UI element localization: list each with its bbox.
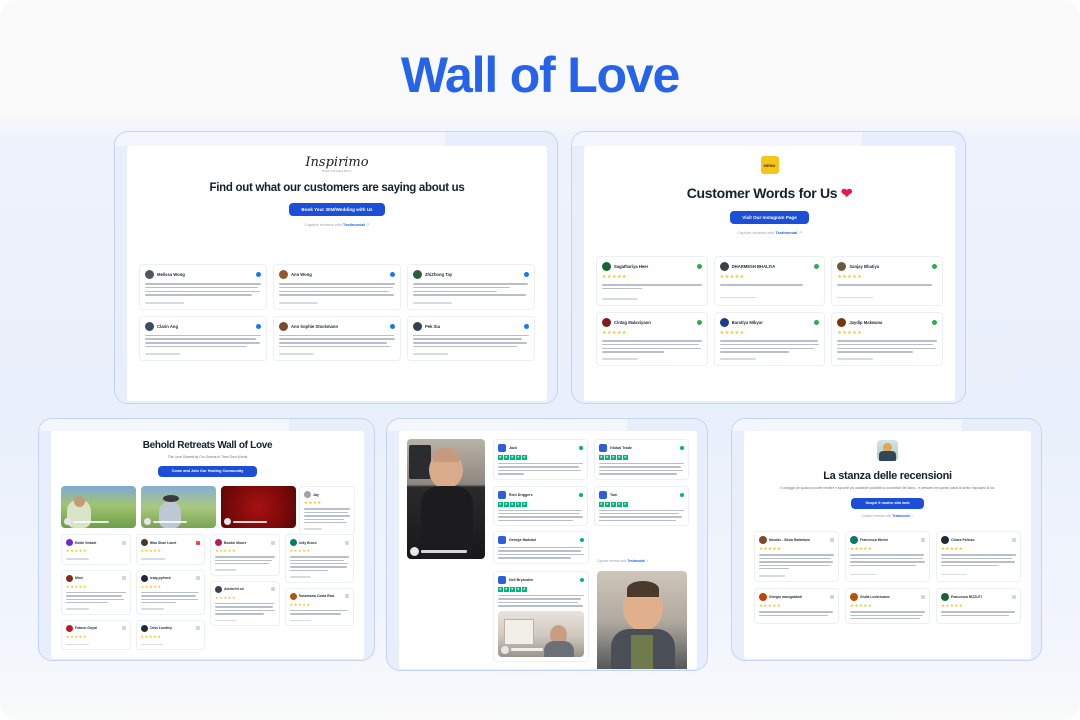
capture-brand: Testimonial: [627, 559, 644, 563]
avatar: [941, 593, 949, 601]
reviews-masonry: Eddie Vedant ★★★★★ Mimi ★★★★★: [61, 534, 354, 650]
video-testimonial[interactable]: [597, 571, 687, 669]
review-text: [66, 592, 126, 604]
facebook-icon: [524, 324, 529, 329]
review-date: [759, 575, 785, 576]
review-text: [290, 610, 350, 615]
panel-subheading: Il coraggio pe qualcuno potrei rendere e…: [770, 486, 1005, 491]
video-label: [410, 547, 467, 556]
facebook-icon: [256, 324, 261, 329]
video-thumbnail[interactable]: [141, 486, 216, 528]
review-date: [145, 302, 184, 304]
review-text: [599, 510, 684, 522]
review-header: Neil Bryanden: [498, 576, 584, 584]
source-icon: [122, 626, 126, 630]
star-rating: ★★★★★: [602, 275, 702, 280]
panel-sheet: Jack ★★★★★ Glo: [399, 431, 697, 669]
video-label: [501, 646, 543, 654]
source-icon: [921, 595, 925, 599]
star-rating: ★★★★★: [837, 331, 937, 336]
source-icon: [345, 541, 349, 545]
review-header: Criss Lundley: [141, 625, 201, 632]
review-header: Ann Sophie Stockmann: [279, 322, 395, 331]
reviewer-name: Global Trade: [610, 446, 680, 450]
review-card[interactable]: DHARMESH BHALIYA ★★★★★: [714, 256, 826, 306]
star-rating: ★★★★★: [66, 635, 126, 639]
reviewer-name: Baratiya Mikyur: [732, 320, 815, 325]
reviewer-name: ZhiZhong Tay: [425, 272, 524, 277]
review-header: ZhiZhong Tay: [413, 270, 529, 279]
avatar-initials: [498, 444, 506, 452]
panel-corner-accent: [572, 132, 862, 146]
review-header: Alexbrett on: [215, 586, 275, 593]
source-icon: [271, 541, 275, 545]
star-rating: ★★★★★: [141, 635, 201, 639]
avatar: [290, 593, 297, 600]
review-header: George Haddad: [498, 536, 584, 544]
reviewer-name: George Haddad: [509, 538, 580, 542]
review-date: [290, 620, 311, 621]
avatar: [837, 318, 846, 327]
video-testimonial[interactable]: [407, 439, 485, 559]
review-date: [602, 298, 638, 300]
avatar: [141, 539, 148, 546]
review-text: [720, 340, 820, 353]
review-header: Melissa Wong: [145, 270, 261, 279]
avatar: [66, 539, 73, 546]
google-icon: [932, 320, 937, 325]
brand-logo-text: MENU: [764, 163, 776, 168]
video-label: [224, 518, 267, 525]
panel-corner-accent: [115, 132, 445, 146]
review-card[interactable]: Pek Sia: [407, 316, 535, 362]
review-card[interactable]: Rich Driggers ★★★★★: [493, 486, 588, 527]
star-rating: ★★★★★: [66, 585, 126, 589]
review-header: Global Trade: [599, 444, 684, 452]
avatar: [413, 270, 422, 279]
review-header: Mika Shae Lonet: [141, 539, 201, 546]
review-card[interactable]: Jolly Bruce ★★★★★: [285, 534, 355, 583]
reviewer-name: Rich Driggers: [509, 493, 579, 497]
cta-button[interactable]: Book Your 30M/Wedding with Us: [289, 203, 384, 216]
source-icon: [830, 538, 834, 542]
review-text: [837, 340, 937, 353]
panel-customer-words[interactable]: MENU Customer Words for Us ❤ Visit Our I…: [571, 131, 966, 404]
avatar-initials: [498, 536, 506, 544]
review-text: [602, 340, 702, 353]
review-date: [145, 353, 180, 355]
star-rating: ★★★★★: [602, 331, 702, 336]
reviewer-name: Mika Shae Lonet: [150, 541, 197, 545]
star-rating: ★★★★★: [599, 502, 684, 507]
cta-button[interactable]: Visit Our Instagram Page: [730, 211, 809, 224]
avatar: [837, 262, 846, 271]
review-header: Cintag Malaviyaon: [602, 318, 702, 327]
review-text: [215, 556, 275, 564]
review-text: [290, 556, 350, 571]
star-rating: ★★★★★: [720, 275, 820, 280]
review-header: Rosamaria Costa Rica: [290, 593, 350, 600]
reviewer-name: Clarin Ang: [157, 324, 256, 329]
review-card[interactable]: Bookie Moore ★★★★★: [210, 534, 280, 576]
review-card[interactable]: Fabrun Goyal ★★★★★: [61, 620, 131, 651]
star-rating: ★★★★★: [498, 455, 583, 460]
review-header: Clarin Ang: [145, 322, 261, 331]
review-date: [215, 569, 236, 570]
avatar-initials: [498, 576, 506, 584]
avatar: [141, 625, 148, 632]
page-title: Wall of Love: [0, 46, 1080, 104]
reviews-grid: Melissa Wong Ann Wong: [139, 264, 535, 361]
review-date: [413, 302, 452, 304]
video-author-name: [233, 521, 267, 523]
review-card[interactable]: Eddie Vedant ★★★★★: [61, 534, 131, 565]
reviewer-name: DHARMESH BHALIYA: [732, 264, 815, 269]
source-icon: [122, 576, 126, 580]
avatar: [410, 547, 419, 556]
star-rating: ★★★★★: [215, 549, 275, 553]
review-date: [141, 608, 165, 609]
review-text: [720, 284, 820, 286]
review-text: [145, 283, 261, 296]
reviewer-name: Giulia Lodericamo: [860, 595, 921, 599]
reviewer-name: Criss Lundley: [150, 626, 197, 630]
review-card[interactable]: Chiara Pelluso ★★★★★: [936, 531, 1021, 582]
review-card[interactable]: Clarin Ang: [139, 316, 267, 362]
trustpilot-icon: [580, 578, 584, 582]
google-icon: [697, 264, 702, 269]
review-card[interactable]: Tom ★★★★★: [594, 486, 689, 527]
review-header: craig pyfrock: [141, 575, 201, 582]
facebook-icon: [256, 272, 261, 277]
review-date: [279, 302, 318, 304]
reviewer-name: Francesca Morini: [860, 538, 921, 542]
review-card[interactable]: George Haddad: [493, 531, 589, 564]
review-text: [837, 284, 937, 286]
review-text: [279, 335, 395, 348]
capture-prefix: Capture reviews with: [737, 230, 774, 235]
facebook-icon: [390, 272, 395, 277]
review-date: [850, 574, 876, 575]
review-header: Jack: [498, 444, 583, 452]
reviews-grid: Sagathariya Heer ★★★★★ DHARMESH BHALIYA: [596, 256, 943, 366]
star-rating: ★★★★★: [941, 604, 1016, 608]
reviewer-name: Nicolas - Silvia Rafaelanu: [769, 538, 830, 542]
brand-logo-subtitle: PHOTOGRAPHY: [127, 169, 547, 173]
video-label: [144, 518, 187, 525]
source-icon: [1012, 595, 1016, 599]
video-thumb-row: [61, 486, 296, 528]
brand-logo: MENU: [761, 156, 779, 174]
review-card[interactable]: Cintag Malaviyaon ★★★★★: [596, 312, 708, 366]
review-card[interactable]: Giulia Lodericamo ★★★★★: [845, 588, 930, 625]
review-header: Jolly Bruce: [290, 539, 350, 546]
review-card[interactable]: Nicolas - Silvia Rafaelanu ★★★★★: [754, 531, 839, 582]
panel-video-wall[interactable]: Jack ★★★★★ Glo: [386, 418, 708, 671]
review-text: [413, 283, 529, 296]
panel-sheet: Inspirimo PHOTOGRAPHY Find out what our …: [127, 146, 547, 401]
review-card[interactable]: Alexbrett on ★★★★★: [210, 581, 280, 626]
review-text: [599, 463, 684, 475]
review-date: [279, 353, 314, 355]
avatar: [66, 575, 73, 582]
review-text: [215, 603, 275, 615]
cta-button[interactable]: Come and Join Our Healing Community: [158, 466, 258, 477]
review-header: Eddie Vedant: [66, 539, 126, 546]
star-rating: ★★★★★: [599, 455, 684, 460]
review-header: Fabrun Goyal: [66, 625, 126, 632]
brand-logo: [877, 440, 898, 461]
review-text: [145, 335, 261, 348]
panel-corner-accent: [39, 419, 289, 431]
star-rating: ★★★★★: [290, 603, 350, 607]
review-card[interactable]: Mika Shae Lonet ★★★★★: [136, 534, 206, 565]
star-rating: ★★★★★: [759, 604, 834, 608]
review-header: Nicolas - Silvia Rafaelanu: [759, 536, 834, 544]
review-date: [413, 353, 448, 355]
capture-reviews-note: Capture reviews with Testimonial ↗: [127, 222, 547, 227]
reviewer-name: Sanjay Bhatiya: [849, 264, 932, 269]
review-text: [759, 611, 834, 616]
panel-inspirimo[interactable]: Inspirimo PHOTOGRAPHY Find out what our …: [114, 131, 558, 404]
review-date: [141, 644, 164, 645]
trustpilot-icon: [580, 538, 584, 542]
heart-icon: ❤: [841, 185, 852, 201]
avatar: [141, 575, 148, 582]
review-header: Bookie Moore: [215, 539, 275, 546]
review-text: [498, 510, 583, 522]
review-text: [498, 463, 583, 475]
source-icon: [1012, 538, 1016, 542]
panel-la-stanza[interactable]: La stanza delle recensioni Il coraggio p…: [731, 418, 1042, 661]
avatar: [850, 536, 858, 544]
avatar: [224, 518, 231, 525]
review-card[interactable]: Giorgio marzgabbidi ★★★★★: [754, 588, 839, 625]
star-rating: ★★★★★: [759, 547, 834, 551]
source-icon: [345, 594, 349, 598]
avatar: [850, 593, 858, 601]
avatar: [145, 270, 154, 279]
trustpilot-icon: [680, 493, 684, 497]
capture-reviews-note: Capture reviews with Testimonial ↗: [744, 514, 1031, 518]
avatar: [64, 518, 71, 525]
panel-heading: Customer Words for Us ❤: [584, 185, 955, 202]
trustpilot-icon: [579, 446, 583, 450]
review-card[interactable]: Neil Bryanden ★★★★★: [493, 571, 589, 662]
video-label: [64, 518, 109, 525]
review-text: [850, 611, 925, 619]
review-text: [413, 335, 529, 348]
avatar: [602, 318, 611, 327]
review-card[interactable]: Rosamaria Costa Rica ★★★★★: [285, 588, 355, 626]
reviewer-name: Alexbrett on: [224, 587, 271, 591]
google-icon: [814, 264, 819, 269]
source-icon: [830, 595, 834, 599]
review-date: [290, 576, 311, 577]
review-date: [720, 358, 756, 360]
review-date: [66, 608, 89, 609]
review-card[interactable]: Jack ★★★★★: [493, 439, 588, 480]
review-card[interactable]: Jay ★★★★: [299, 486, 355, 535]
facebook-icon: [524, 272, 529, 277]
avatar: [602, 262, 611, 271]
review-date: [141, 558, 166, 559]
review-card[interactable]: Mimi ★★★★★: [61, 570, 131, 615]
avatar: [215, 539, 222, 546]
avatar: [501, 646, 509, 654]
review-card[interactable]: Criss Lundley ★★★★★: [136, 620, 206, 651]
panel-sheet: La stanza delle recensioni Il coraggio p…: [744, 431, 1031, 659]
review-header: Mimi: [66, 575, 126, 582]
google-icon: [932, 264, 937, 269]
avatar-initials: [498, 491, 506, 499]
panel-sheet: MENU Customer Words for Us ❤ Visit Our I…: [584, 146, 955, 401]
video-thumbnail[interactable]: [221, 486, 296, 528]
reviewer-name: Fabrun Goyal: [75, 626, 122, 630]
reviewer-name: Chiara Pelluso: [951, 538, 1012, 542]
review-card[interactable]: Sagathariya Heer ★★★★★: [596, 256, 708, 306]
reviewer-name: Rosamaria Costa Rica: [299, 594, 346, 598]
brand-logo: Inspirimo: [127, 156, 547, 169]
avatar: [720, 262, 729, 271]
facebook-icon: [390, 324, 395, 329]
review-card[interactable]: Baratiya Mikyur ★★★★★: [714, 312, 826, 366]
avatar: [215, 586, 222, 593]
video-author-name: [153, 521, 187, 523]
review-card[interactable]: craig pyfrock ★★★★★: [136, 570, 206, 615]
video-testimonial[interactable]: [498, 611, 584, 657]
review-card[interactable]: ZhiZhong Tay: [407, 264, 535, 310]
star-rating: ★★★★★: [720, 331, 820, 336]
review-header: Giulia Lodericamo: [850, 593, 925, 601]
review-card[interactable]: Sanjay Bhatiya ★★★★★: [831, 256, 943, 306]
review-date: [720, 297, 756, 299]
reviewer-name: Francesca RIZZUTI: [951, 595, 1012, 599]
reviewer-name: Giorgio marzgabbidi: [769, 595, 830, 599]
source-icon: [271, 587, 275, 591]
reviewer-name: Jay: [313, 493, 350, 497]
reviewer-name: Tom: [610, 493, 680, 497]
star-rating: ★★★★★: [215, 596, 275, 600]
review-text: [304, 508, 350, 523]
review-card[interactable]: Ann Sophie Stockmann: [273, 316, 401, 362]
source-icon: [122, 541, 126, 545]
source-icon: [921, 538, 925, 542]
reviews-grid: Jack ★★★★★ Glo: [493, 439, 689, 526]
reviewer-name: Mimi: [75, 576, 122, 580]
avatar: [145, 322, 154, 331]
review-text: [941, 611, 1016, 616]
avatar-initials: [599, 444, 607, 452]
star-rating: ★★★★★: [141, 585, 201, 589]
star-rating: ★★★★★: [850, 547, 925, 551]
review-date: [66, 644, 89, 645]
review-text: [602, 284, 702, 289]
video-author-name: [511, 648, 543, 650]
review-header: Francesca Morini: [850, 536, 925, 544]
reviewer-name: Pek Sia: [425, 324, 524, 329]
panel-sheet: Behold Retreats Wall of Love The Love Sh…: [51, 431, 364, 659]
star-rating: ★★★★★: [498, 502, 583, 507]
star-rating: ★★★★★: [498, 587, 584, 592]
video-author-name: [73, 521, 109, 523]
avatar: [759, 536, 767, 544]
avatar: [720, 318, 729, 327]
review-date: [837, 297, 873, 299]
review-card[interactable]: Melissa Wong: [139, 264, 267, 310]
google-icon: [697, 320, 702, 325]
avatar: [144, 518, 151, 525]
panel-heading: La stanza delle recensioni: [744, 470, 1031, 482]
capture-reviews-note: Capture reviews with Testimonial ↗: [584, 230, 955, 235]
capture-prefix: Capture reviews with: [597, 559, 627, 563]
cta-button[interactable]: Scopri il nostro sito web: [851, 498, 923, 509]
avatar: [290, 539, 297, 546]
review-header: Pek Sia: [413, 322, 529, 331]
review-header: Sanjay Bhatiya: [837, 262, 937, 271]
star-rating: ★★★★★: [850, 604, 925, 608]
reviewer-name: Jaydip Makwana: [849, 320, 932, 325]
reviewer-name: Eddie Vedant: [75, 541, 122, 545]
review-card[interactable]: Francesca Morini ★★★★★: [845, 531, 930, 582]
source-icon: [196, 541, 200, 545]
review-header: Ann Wong: [279, 270, 395, 279]
video-thumbnail[interactable]: [61, 486, 136, 528]
review-date: [304, 528, 322, 529]
google-icon: [814, 320, 819, 325]
capture-brand: Testimonial: [892, 514, 909, 518]
review-card[interactable]: Global Trade ★★★★★: [594, 439, 689, 480]
capture-brand: Testimonial: [343, 222, 365, 227]
avatar-initials: [599, 491, 607, 499]
panel-heading: Find out what our customers are saying a…: [185, 182, 489, 195]
review-header: Jay: [304, 491, 350, 498]
review-text: [941, 554, 1016, 566]
capture-prefix: Capture reviews with: [305, 222, 342, 227]
source-icon: [196, 576, 200, 580]
review-text: [141, 592, 201, 604]
reviewer-name: Melissa Wong: [157, 272, 256, 277]
star-rating: ★★★★: [304, 501, 350, 505]
review-card[interactable]: Jaydip Makwana ★★★★★: [831, 312, 943, 366]
reviewer-name: Neil Bryanden: [509, 578, 580, 582]
reviewer-name: Bookie Moore: [224, 541, 271, 545]
review-header: Tom: [599, 491, 684, 499]
reviewer-name: craig pyfrock: [150, 576, 197, 580]
review-header: Jaydip Makwana: [837, 318, 937, 327]
review-text: [759, 554, 834, 569]
avatar: [279, 322, 288, 331]
review-card[interactable]: Ann Wong: [273, 264, 401, 310]
panel-subheading: The Love Shared by Our Guests in Their O…: [51, 455, 364, 459]
review-date: [215, 620, 236, 621]
review-text: [498, 595, 584, 607]
reviewer-name: Jack: [509, 446, 579, 450]
review-header: Rich Driggers: [498, 491, 583, 499]
avatar: [304, 491, 311, 498]
source-icon: [196, 626, 200, 630]
video-author-name: [421, 550, 467, 552]
review-header: Sagathariya Heer: [602, 262, 702, 271]
review-text: [498, 547, 584, 559]
trustpilot-icon: [680, 446, 684, 450]
reviewer-name: Ann Wong: [291, 272, 390, 277]
review-header: Baratiya Mikyur: [720, 318, 820, 327]
star-rating: ★★★★★: [941, 547, 1016, 551]
panel-behold-retreats[interactable]: Behold Retreats Wall of Love The Love Sh…: [38, 418, 375, 661]
review-card[interactable]: Francesca RIZZUTI ★★★★★: [936, 588, 1021, 625]
capture-reviews-note: Capture reviews with Testimonial ↗: [597, 559, 649, 563]
